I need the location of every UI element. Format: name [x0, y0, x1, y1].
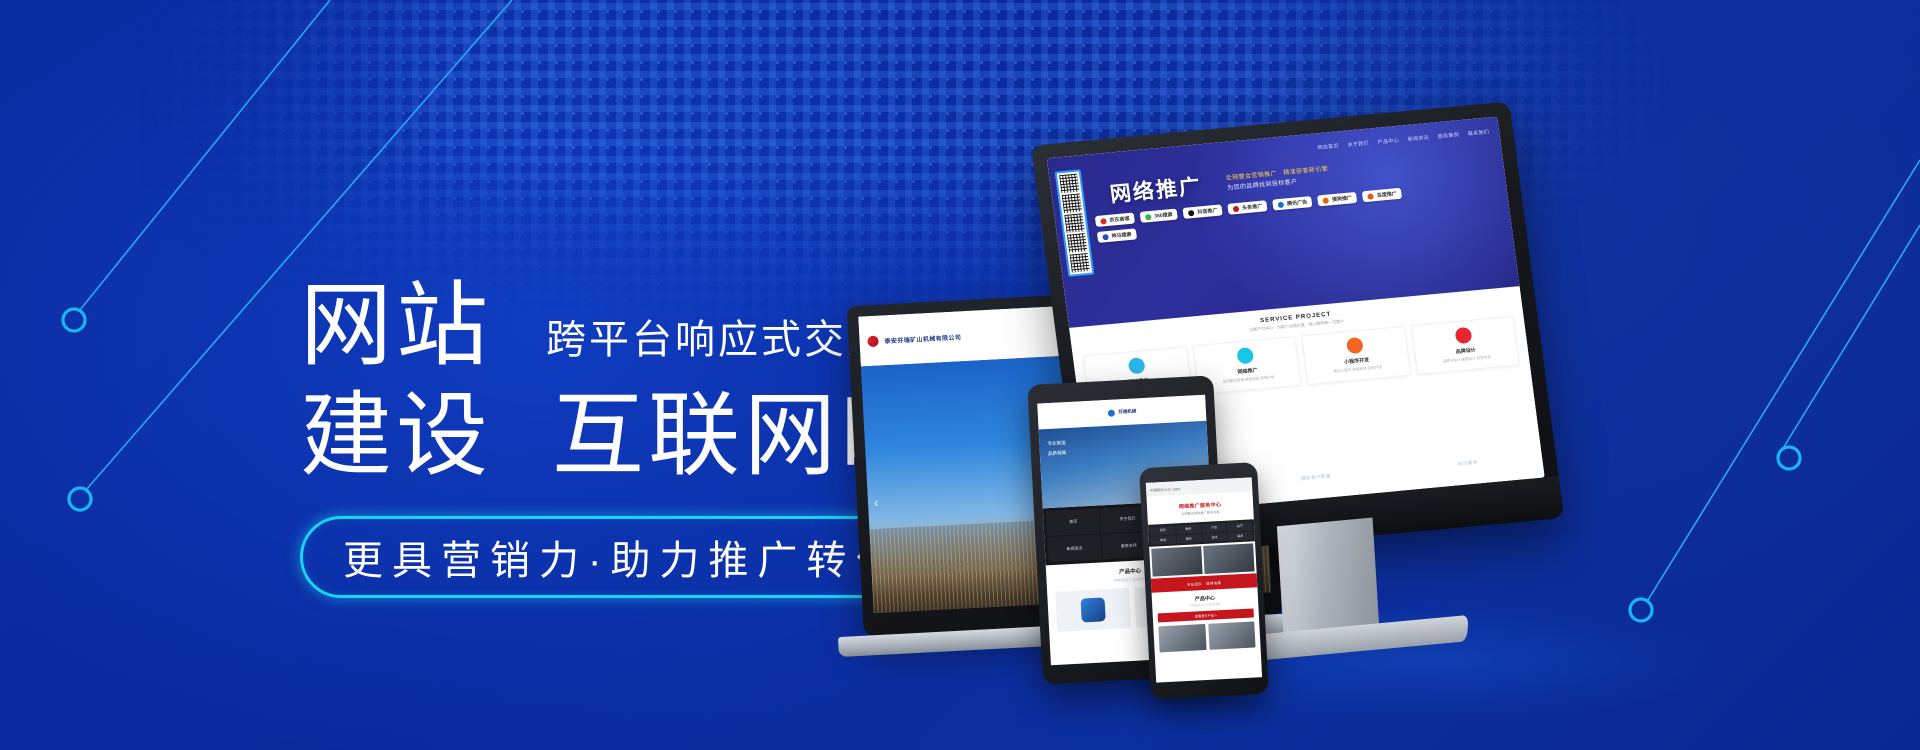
service-icon — [1346, 337, 1364, 354]
service-icon — [1127, 357, 1145, 374]
tablet-site-brand: 芬瑞机械 — [1118, 409, 1136, 416]
stat-value: 1000+ — [1294, 456, 1335, 474]
tablet-product-card — [1055, 588, 1130, 632]
hero-banner: 网站 跨平台响应式交互体验 建设 互联网时代 更具营销力·助力推广转化 泰安芬瑞… — [0, 0, 1920, 750]
tablet-menu-item: 首页 — [1046, 508, 1101, 536]
qr-code-icon — [1062, 193, 1082, 213]
phone-product-card — [1158, 624, 1206, 652]
service-icon — [1237, 347, 1255, 364]
device-mockup-cluster: 泰安芬瑞矿山机械有限公司 网站首页 关于我们 产品中心 新闻中心 服务支持 联系… — [1085, 120, 1805, 680]
monitor-nav-item: 联系我们 — [1467, 128, 1489, 137]
chip-label: 百度推广 — [1376, 190, 1397, 199]
partner-chip: 京东商城 — [1095, 213, 1135, 228]
headline-line-1: 网站 — [300, 280, 492, 372]
phone-product-grid — [1153, 621, 1260, 653]
tablet-menu-item: 新闻资讯 — [1047, 535, 1102, 563]
phone-nav-item: 产品 — [1202, 523, 1227, 533]
tagline-text: 更具营销力·助力推广转化 — [343, 528, 904, 586]
service-card: 品牌设计 品牌VI设计 画册设计 视觉包装 — [1410, 316, 1520, 375]
tablet-site-logo-icon — [1107, 409, 1114, 416]
qr-code-icon — [1070, 253, 1090, 273]
qr-code-icon — [1064, 213, 1084, 233]
accent-circle-2 — [69, 488, 91, 510]
chip-dot-icon — [1233, 205, 1240, 212]
service-card: 小程序开发 微信小程序 商城系统 定制开发 — [1301, 326, 1411, 385]
partner-chip: 抖音推广 — [1183, 204, 1223, 219]
laptop-carousel-prev-icon: ‹ — [874, 494, 879, 509]
phone-body: 中国移动 9:41 100% 网络推广服务中心 全网整合营销推广解决方案 首页 … — [1139, 462, 1269, 700]
partner-chip: 神马搜索 — [1097, 228, 1137, 243]
partner-chip: 头条推广 — [1228, 200, 1268, 215]
stat-label: 服务客户数量 — [1296, 473, 1336, 483]
chip-dot-icon — [1323, 197, 1330, 204]
monitor-nav-item: 关于我们 — [1347, 139, 1369, 148]
chip-label: 京东商城 — [1109, 215, 1130, 224]
partner-chip: 360搜索 — [1140, 209, 1179, 223]
monitor-hero-title: 网络推广 — [1108, 170, 1204, 208]
chip-dot-icon — [1368, 193, 1375, 200]
phone-nav-item: 首页 — [1150, 525, 1175, 535]
headline-line-2: 建设 — [300, 390, 492, 482]
partner-chip: 搜狗推广 — [1317, 192, 1357, 207]
chip-dot-icon — [1188, 209, 1195, 216]
monitor-hero-subtitle: 全网整合营销推广 · 精准获客新引擎 为您的品牌找到目标客户 — [1225, 160, 1377, 194]
stat-item: 300+ 成功案例 — [1450, 443, 1484, 469]
product-thumb — [1080, 598, 1105, 623]
accent-line-left-upper — [80, 0, 330, 310]
chip-dot-icon — [1102, 233, 1109, 240]
phone-nav-item: 关于 — [1227, 521, 1252, 531]
accent-circle-1 — [63, 309, 85, 331]
phone-banner-subtitle: 全网整合营销推广解决方案 — [1181, 509, 1219, 516]
chip-label: 搜狗推广 — [1332, 194, 1353, 203]
laptop-site-brand: 泰安芬瑞矿山机械有限公司 — [884, 332, 961, 345]
phone-nav-item: 新闻 — [1151, 535, 1176, 545]
monitor-nav-item: 服务案例 — [1437, 131, 1459, 140]
partner-chip: 腾讯广告 — [1273, 196, 1313, 211]
chip-dot-icon — [1100, 218, 1107, 225]
chip-label: 抖音推广 — [1197, 207, 1218, 216]
monitor-qr-strip — [1055, 169, 1095, 276]
phone-more-button[interactable]: 查看更多产品 > — [1158, 608, 1254, 622]
chip-label: 神马搜索 — [1111, 231, 1132, 240]
imac-stand-neck — [1277, 518, 1380, 643]
chip-label: 360搜索 — [1154, 211, 1173, 220]
partner-chip: 百度推广 — [1362, 188, 1402, 203]
phone-nav-item: 服务 — [1176, 534, 1201, 544]
phone-nav-item: 联系 — [1228, 531, 1253, 541]
tablet-hero-text: 专业制造 品质保障 — [1047, 438, 1066, 458]
stat-value: 300+ — [1450, 443, 1483, 461]
phone-nav-item: 案例 — [1176, 524, 1201, 534]
qr-code-icon — [1067, 233, 1087, 253]
service-icon — [1455, 327, 1473, 344]
monitor-nav-item: 新闻资讯 — [1407, 134, 1429, 143]
chip-label: 头条推广 — [1242, 203, 1263, 212]
phone-photo — [1203, 543, 1254, 574]
phone-screen: 中国移动 9:41 100% 网络推广服务中心 全网整合营销推广解决方案 首页 … — [1146, 477, 1262, 682]
phone-device: 中国移动 9:41 100% 网络推广服务中心 全网整合营销推广解决方案 首页 … — [1139, 462, 1269, 700]
stat-item: 1000+ 服务客户数量 — [1294, 456, 1336, 482]
tagline-pill: 更具营销力·助力推广转化 — [300, 516, 947, 598]
chip-dot-icon — [1278, 201, 1285, 208]
phone-photo — [1151, 546, 1202, 577]
chip-dot-icon — [1145, 213, 1152, 220]
tablet-hero-line2: 品质保障 — [1048, 448, 1067, 459]
phone-nav-item: 资讯 — [1202, 532, 1227, 542]
stat-label: 成功案例 — [1452, 459, 1484, 468]
laptop-site-logo-icon — [867, 335, 879, 347]
phone-product-card — [1208, 621, 1256, 649]
monitor-nav-item: 网站首页 — [1317, 142, 1339, 151]
chip-label: 腾讯广告 — [1287, 198, 1308, 207]
monitor-nav-item: 产品中心 — [1377, 136, 1399, 145]
qr-code-icon — [1059, 174, 1079, 194]
